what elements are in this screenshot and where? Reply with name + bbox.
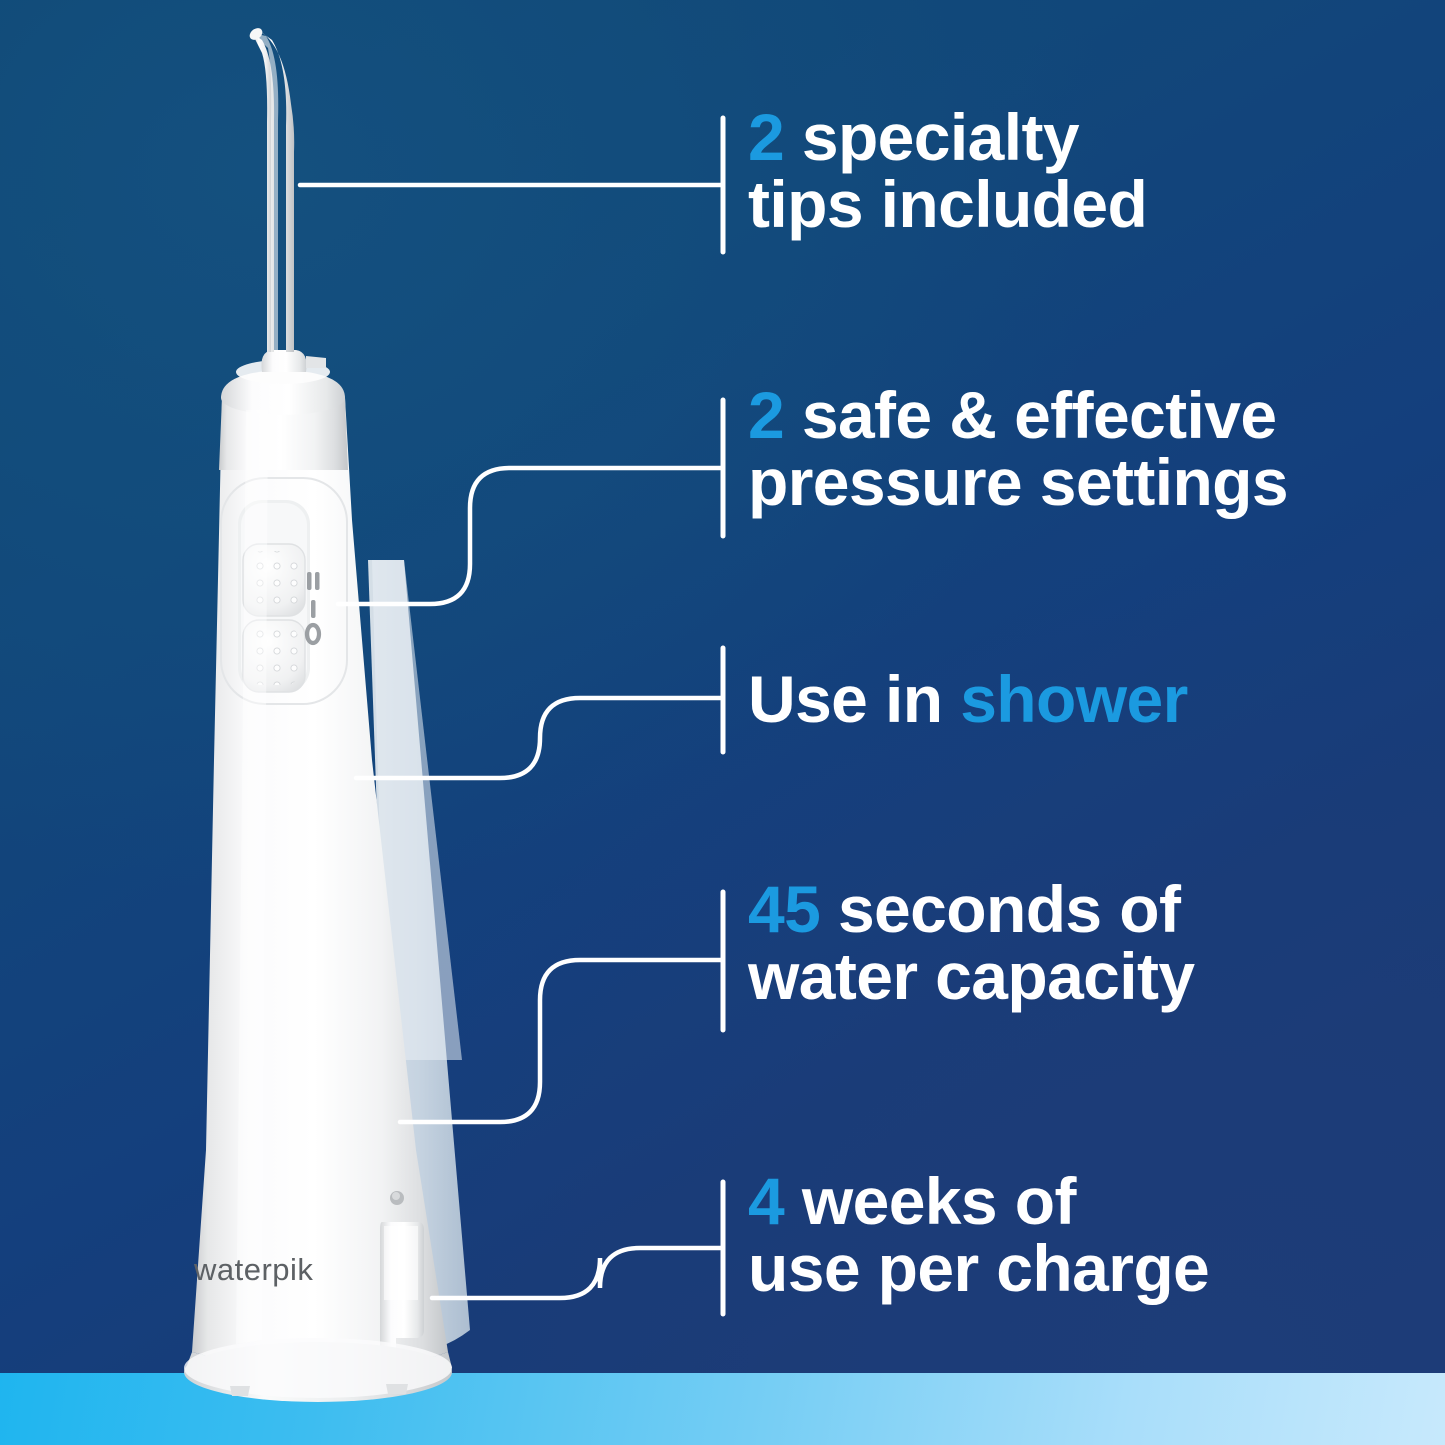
callout-accent-number: 45: [748, 872, 820, 946]
callout-pressure-settings: 2 safe & effective pressure settings: [748, 382, 1288, 517]
callout-accent-number: 2: [748, 378, 784, 452]
callout-specialty-tips: 2 specialty tips included: [748, 104, 1147, 239]
leader-line-battery-life: [432, 1182, 723, 1314]
infographic-canvas: waterpik 2 specialty: [0, 0, 1445, 1445]
callout-line1-text: weeks of: [784, 1164, 1076, 1238]
callout-line1-text: safe & effective: [784, 378, 1276, 452]
leader-lines: [0, 0, 1445, 1445]
callout-line2-text: tips included: [748, 171, 1147, 238]
callout-accent-number: 2: [748, 100, 784, 174]
callout-accent-word: shower: [960, 662, 1187, 736]
leader-line-pressure-settings: [338, 400, 723, 604]
callout-line2-text: use per charge: [748, 1235, 1209, 1302]
callout-line2-text: water capacity: [748, 943, 1195, 1010]
callout-line1-text: Use in: [748, 662, 960, 736]
leader-line-use-in-shower: [356, 648, 723, 778]
callout-line2-text: pressure settings: [748, 449, 1288, 516]
callout-accent-number: 4: [748, 1164, 784, 1238]
callout-use-in-shower: Use in shower: [748, 666, 1188, 733]
leader-line-water-capacity: [400, 892, 723, 1122]
callout-line1-text: seconds of: [820, 872, 1180, 946]
callout-water-capacity: 45 seconds of water capacity: [748, 876, 1195, 1011]
leader-line-specialty-tips: [300, 118, 723, 252]
callout-line1-text: specialty: [784, 100, 1079, 174]
callout-battery-life: 4 weeks of use per charge: [748, 1168, 1209, 1303]
